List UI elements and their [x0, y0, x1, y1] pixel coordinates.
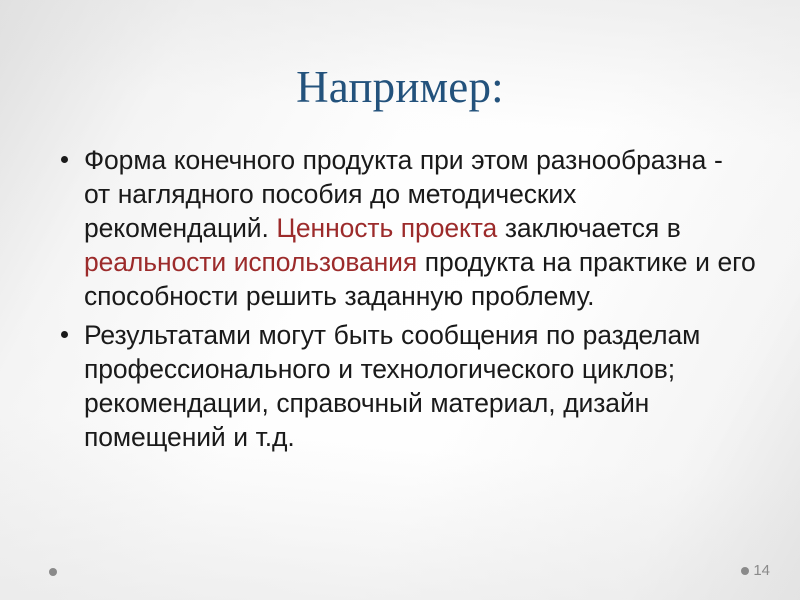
- bullet-text-segment-emphasis: реальности использования: [84, 247, 417, 277]
- slide-content: Например: Форма конечного продукта при э…: [0, 0, 800, 600]
- page-bullet-dot-icon: [741, 567, 749, 575]
- list-item: Результатами могут быть сообщения по раз…: [56, 318, 756, 454]
- slide: Например: Форма конечного продукта при э…: [0, 0, 800, 600]
- page-number: 14: [753, 562, 770, 580]
- bullet-dot-icon: [61, 156, 68, 163]
- list-item: Форма конечного продукта при этом разноо…: [56, 143, 756, 313]
- bullet-list: Форма конечного продукта при этом разноо…: [56, 143, 756, 456]
- page-title: Например:: [0, 61, 800, 113]
- bullet-text-segment: заключается в: [497, 213, 681, 243]
- page-number-marker: 14: [741, 562, 770, 580]
- bullet-text-segment: Результатами могут быть сообщения по раз…: [84, 320, 700, 452]
- bullet-dot-icon: [61, 331, 68, 338]
- bullet-text-segment-emphasis: Ценность проекта: [276, 213, 497, 243]
- footer-dot-icon: [49, 568, 57, 576]
